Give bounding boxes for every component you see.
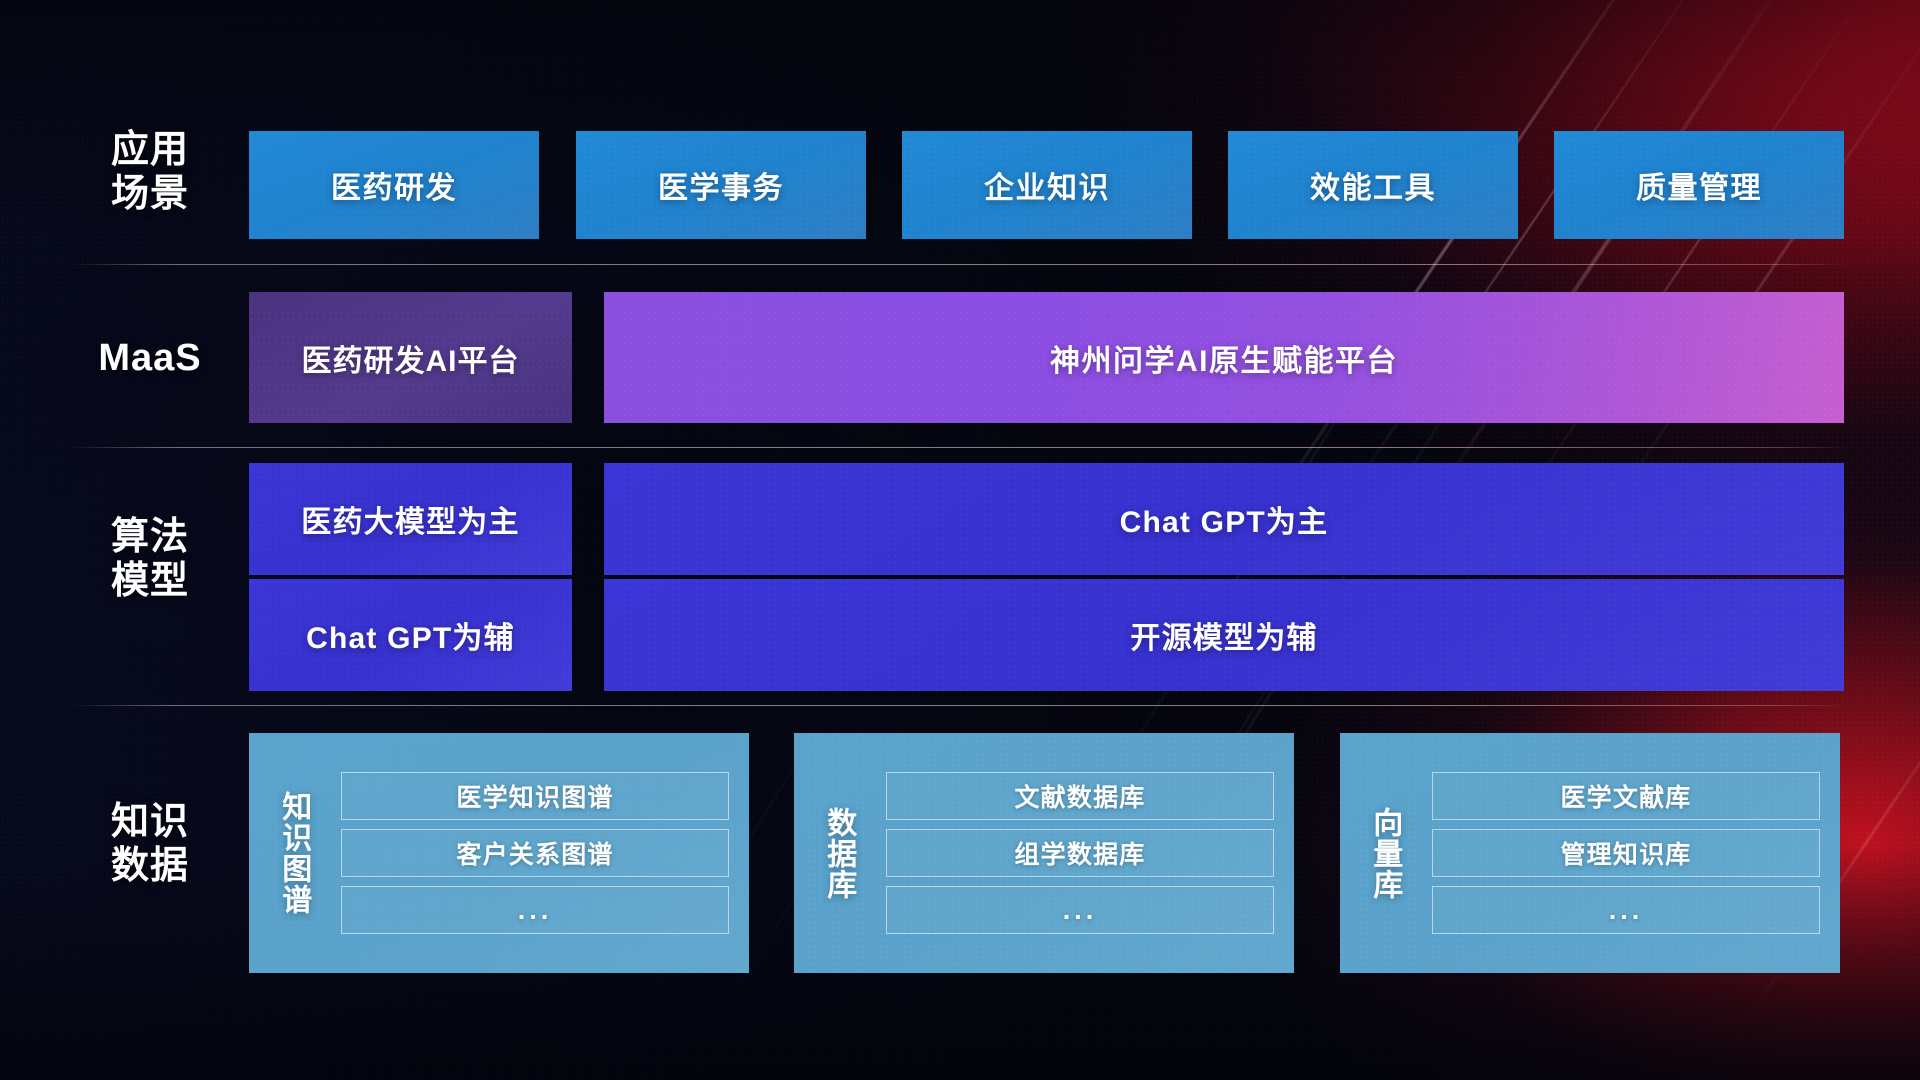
algorithm-card-right-1[interactable]: 开源模型为辅 bbox=[604, 579, 1844, 691]
app-card-4[interactable]: 质量管理 bbox=[1554, 131, 1844, 239]
knowledge-item-label-0-0: 医学知识图谱 bbox=[456, 778, 613, 814]
divider-maas-algorithm bbox=[70, 447, 1848, 448]
knowledge-item-1-1[interactable]: 组学数据库 bbox=[886, 829, 1274, 877]
row-label-maas: MaaS bbox=[70, 336, 230, 380]
app-card-label-1: 医学事务 bbox=[658, 163, 784, 207]
app-card-0[interactable]: 医药研发 bbox=[249, 131, 539, 239]
row-label-algorithm: 算法 模型 bbox=[70, 515, 230, 603]
app-card-1[interactable]: 医学事务 bbox=[576, 131, 866, 239]
algorithm-card-left-1[interactable]: Chat GPT为辅 bbox=[249, 579, 572, 691]
knowledge-item-1-0[interactable]: 文献数据库 bbox=[886, 772, 1274, 820]
knowledge-panel-items-0: 医学知识图谱 客户关系图谱 ... bbox=[337, 733, 749, 973]
divider-application-maas bbox=[70, 264, 1848, 265]
app-card-3[interactable]: 效能工具 bbox=[1228, 131, 1518, 239]
maas-platform-label: 医药研发AI平台 bbox=[302, 336, 520, 380]
knowledge-item-label-0-1: 客户关系图谱 bbox=[456, 835, 613, 871]
algorithm-card-left-0[interactable]: 医药大模型为主 bbox=[249, 463, 572, 575]
row-label-knowledge: 知识 数据 bbox=[70, 800, 230, 888]
knowledge-panel-title-0: 知识图谱 bbox=[249, 733, 337, 973]
knowledge-item-label-1-0: 文献数据库 bbox=[1014, 778, 1145, 814]
knowledge-item-label-1-1: 组学数据库 bbox=[1014, 835, 1145, 871]
knowledge-item-label-1-2: ... bbox=[1063, 895, 1098, 926]
knowledge-item-label-2-0: 医学文献库 bbox=[1560, 778, 1691, 814]
divider-algorithm-knowledge bbox=[70, 705, 1848, 706]
knowledge-item-label-2-1: 管理知识库 bbox=[1560, 835, 1691, 871]
app-card-label-0: 医药研发 bbox=[331, 163, 457, 207]
app-card-label-2: 企业知识 bbox=[984, 163, 1110, 207]
algorithm-card-right-0[interactable]: Chat GPT为主 bbox=[604, 463, 1844, 575]
knowledge-panel-title-1: 数据库 bbox=[794, 733, 882, 973]
knowledge-panel-items-1: 文献数据库 组学数据库 ... bbox=[882, 733, 1294, 973]
knowledge-item-label-2-2: ... bbox=[1609, 895, 1644, 926]
maas-platform-card[interactable]: 医药研发AI平台 bbox=[249, 292, 572, 423]
knowledge-panel-items-2: 医学文献库 管理知识库 ... bbox=[1428, 733, 1840, 973]
algorithm-label-left-1: Chat GPT为辅 bbox=[306, 613, 515, 657]
knowledge-item-2-1[interactable]: 管理知识库 bbox=[1432, 829, 1820, 877]
maas-enablement-label: 神州问学AI原生赋能平台 bbox=[1050, 336, 1398, 380]
knowledge-item-2-2[interactable]: ... bbox=[1432, 886, 1820, 934]
knowledge-panel-0[interactable]: 知识图谱 医学知识图谱 客户关系图谱 ... bbox=[249, 733, 749, 973]
knowledge-item-1-2[interactable]: ... bbox=[886, 886, 1274, 934]
knowledge-panel-2[interactable]: 向量库 医学文献库 管理知识库 ... bbox=[1340, 733, 1840, 973]
knowledge-item-0-0[interactable]: 医学知识图谱 bbox=[341, 772, 729, 820]
knowledge-item-label-0-2: ... bbox=[518, 895, 553, 926]
app-card-2[interactable]: 企业知识 bbox=[902, 131, 1192, 239]
knowledge-item-2-0[interactable]: 医学文献库 bbox=[1432, 772, 1820, 820]
algorithm-label-left-0: 医药大模型为主 bbox=[301, 497, 519, 541]
knowledge-item-0-1[interactable]: 客户关系图谱 bbox=[341, 829, 729, 877]
app-card-label-4: 质量管理 bbox=[1636, 163, 1762, 207]
knowledge-item-0-2[interactable]: ... bbox=[341, 886, 729, 934]
algorithm-label-right-1: 开源模型为辅 bbox=[1130, 613, 1317, 657]
algorithm-label-right-0: Chat GPT为主 bbox=[1120, 497, 1329, 541]
maas-enablement-card[interactable]: 神州问学AI原生赋能平台 bbox=[604, 292, 1844, 423]
knowledge-panel-1[interactable]: 数据库 文献数据库 组学数据库 ... bbox=[794, 733, 1294, 973]
row-label-application: 应用 场景 bbox=[70, 128, 230, 216]
app-card-label-3: 效能工具 bbox=[1310, 163, 1436, 207]
knowledge-panel-title-2: 向量库 bbox=[1340, 733, 1428, 973]
